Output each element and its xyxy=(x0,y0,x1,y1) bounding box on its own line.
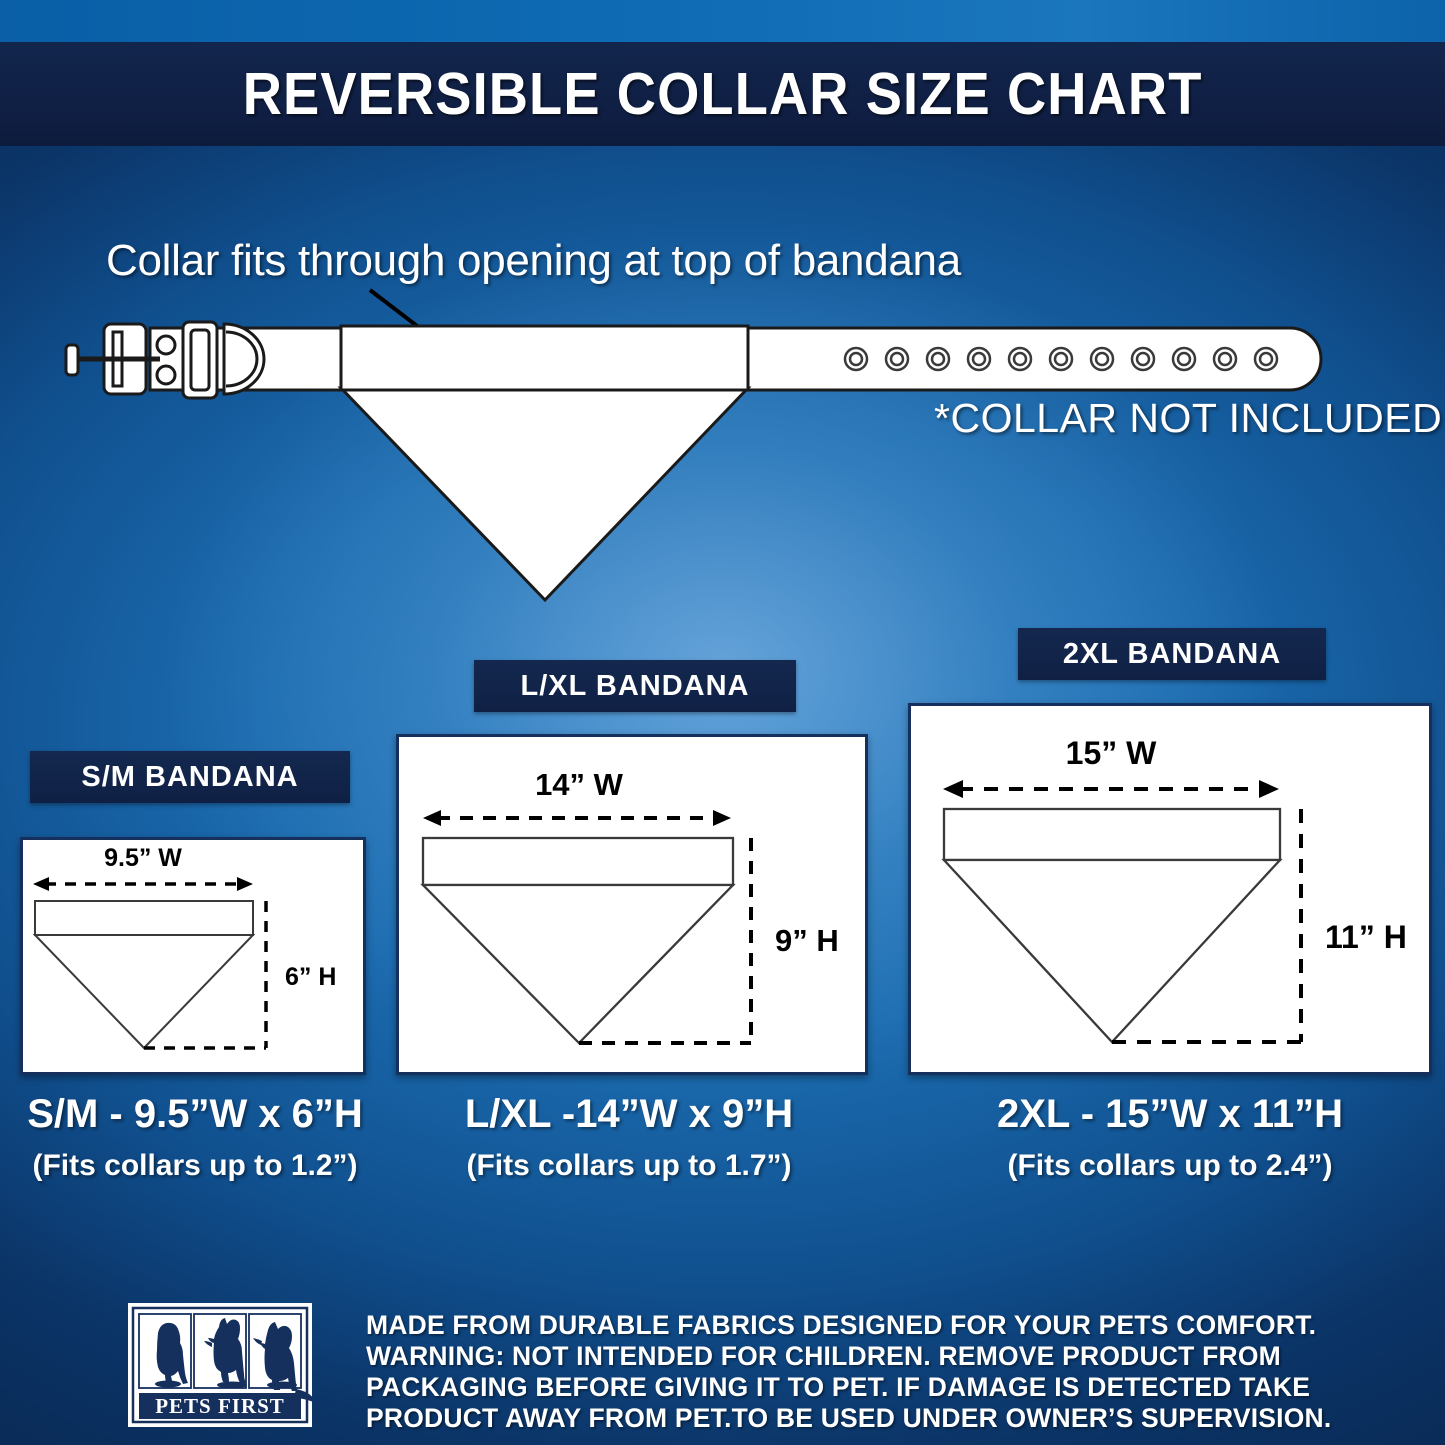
panel-header-sm: S/M BANDANA xyxy=(30,751,350,803)
height-label-2xl: 11” H xyxy=(1325,919,1407,955)
width-label-sm: 9.5” W xyxy=(104,844,182,872)
collar-not-included-note: *COLLAR NOT INCLUDED xyxy=(934,395,1442,442)
caption-2xl-line1: 2XL - 15”W x 11”H xyxy=(975,1092,1365,1137)
footer-line-1: MADE FROM DURABLE FABRICS DESIGNED FOR Y… xyxy=(366,1310,1356,1341)
caption-sm-line2: (Fits collars up to 1.2”) xyxy=(0,1149,390,1183)
page-title: REVERSIBLE COLLAR SIZE CHART xyxy=(243,60,1203,128)
bandana-diagram-sm: 9.5” W 6” H xyxy=(23,840,363,1072)
width-label-2xl: 15” W xyxy=(1066,735,1157,771)
bandana-diagram-lxl: 14” W 9” H xyxy=(399,737,865,1072)
title-band: REVERSIBLE COLLAR SIZE CHART xyxy=(0,42,1445,146)
caption-sm-line1: S/M - 9.5”W x 6”H xyxy=(0,1092,390,1137)
size-chart-infographic: REVERSIBLE COLLAR SIZE CHART Collar fits… xyxy=(0,0,1445,1445)
bandana-shape xyxy=(341,326,748,600)
width-dimension-arrow-2xl xyxy=(943,780,1279,798)
pets-first-logo: PETS FIRST xyxy=(128,1303,312,1427)
caption-lxl: L/XL -14”W x 9”H (Fits collars up to 1.7… xyxy=(439,1092,819,1183)
footer-line-4: PRODUCT AWAY FROM PET.TO BE USED UNDER O… xyxy=(366,1403,1356,1434)
width-label-lxl: 14” W xyxy=(535,767,624,802)
caption-sm: S/M - 9.5”W x 6”H (Fits collars up to 1.… xyxy=(0,1092,390,1183)
bandana-diagram-2xl: 15” W 11” H xyxy=(911,706,1429,1072)
caption-lxl-line2: (Fits collars up to 1.7”) xyxy=(439,1149,819,1183)
caption-2xl: 2XL - 15”W x 11”H (Fits collars up to 2.… xyxy=(975,1092,1365,1183)
width-dimension-arrow-lxl xyxy=(423,810,731,826)
size-card-sm: 9.5” W 6” H xyxy=(20,837,366,1075)
footer-line-3: PACKAGING BEFORE GIVING IT TO PET. IF DA… xyxy=(366,1372,1356,1403)
caption-lxl-line1: L/XL -14”W x 9”H xyxy=(439,1092,819,1137)
panel-header-2xl: 2XL BANDANA xyxy=(1018,628,1326,680)
height-label-lxl: 9” H xyxy=(775,923,839,958)
collar-buckle-icon xyxy=(66,324,160,394)
footer-disclaimer: MADE FROM DURABLE FABRICS DESIGNED FOR Y… xyxy=(366,1310,1356,1434)
height-label-sm: 6” H xyxy=(285,963,336,991)
footer-line-2: WARNING: NOT INTENDED FOR CHILDREN. REMO… xyxy=(366,1341,1356,1372)
width-dimension-arrow-sm xyxy=(33,877,253,891)
top-accent-strip xyxy=(0,0,1445,42)
size-card-2xl: 15” W 11” H xyxy=(908,703,1432,1075)
size-card-lxl: 14” W 9” H xyxy=(396,734,868,1075)
panel-header-lxl: L/XL BANDANA xyxy=(474,660,796,712)
logo-wordmark: PETS FIRST xyxy=(155,1394,285,1418)
caption-2xl-line2: (Fits collars up to 2.4”) xyxy=(975,1149,1365,1183)
collar-keeper-loop-icon xyxy=(183,322,217,398)
